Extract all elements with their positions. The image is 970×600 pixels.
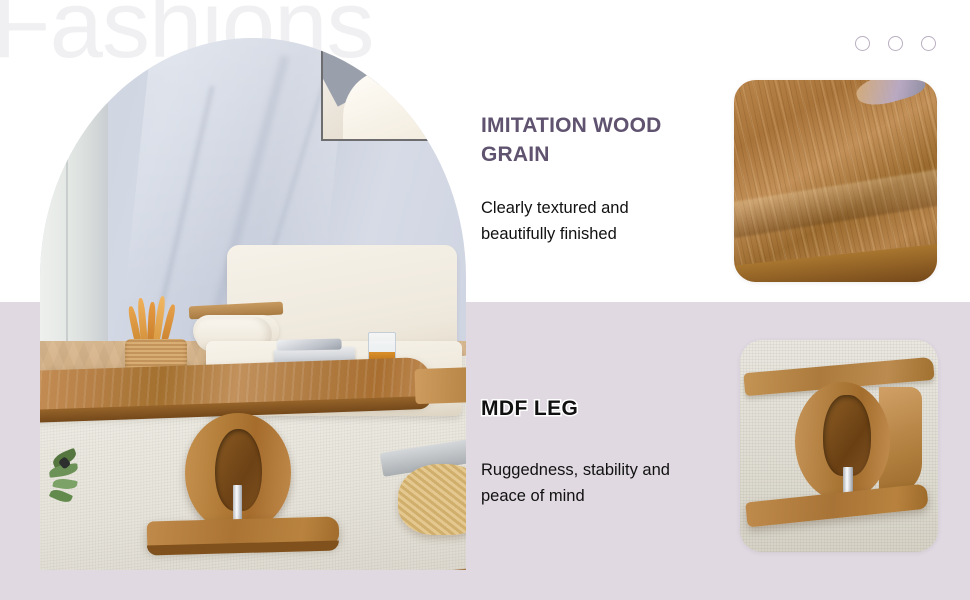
thumb-pedestal-cutout [823,395,871,476]
carousel-dot-2[interactable] [888,36,903,51]
feature-mdf-leg: MDF LEG Ruggedness, stability and peace … [481,395,706,509]
wall-art-frame [321,38,434,141]
potted-plant [49,448,104,522]
feature-body-imitation-wood-grain: Clearly textured and beautifully finishe… [481,196,696,247]
carousel-dot-1[interactable] [855,36,870,51]
carousel-dots[interactable] [855,36,936,51]
background-bench [414,367,466,404]
plant-leaf [49,487,73,505]
wood-grain-texture [734,80,937,282]
rattan-pouf [398,464,466,536]
feature-title-imitation-wood-grain: IMITATION WOOD GRAIN [481,112,696,170]
hero-product-photo[interactable] [40,38,466,570]
breadsticks-bundle [129,296,182,344]
feature-body-mdf-leg: Ruggedness, stability and peace of mind [481,458,706,509]
carousel-dot-3[interactable] [921,36,936,51]
thumbnail-mdf-leg[interactable] [740,340,938,552]
hero-photo-scene [40,38,466,570]
feature-title-mdf-leg: MDF LEG [481,395,706,424]
thumbnail-wood-grain[interactable] [734,80,937,282]
feature-imitation-wood-grain: IMITATION WOOD GRAIN Clearly textured an… [481,112,696,247]
product-feature-banner: Fashions [0,0,970,600]
